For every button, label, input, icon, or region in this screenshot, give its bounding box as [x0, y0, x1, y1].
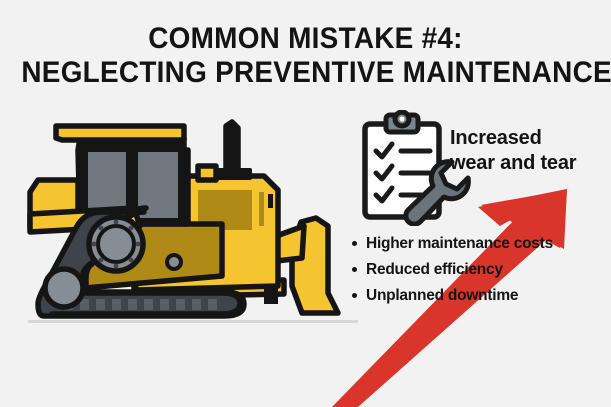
- callout-heading-line-1: Increased: [450, 127, 542, 149]
- list-item-label: Unplanned downtime: [366, 287, 518, 304]
- list-item: Reduced efficiency: [352, 260, 602, 279]
- title-line-2: NEGLECTING PREVENTIVE MAINTENANCE: [21, 56, 589, 90]
- page-title: COMMON MISTAKE #4: NEGLECTING PREVENTIVE…: [0, 22, 611, 90]
- bullet-dot-icon: [352, 241, 357, 246]
- exhaust-stack: [226, 122, 238, 174]
- title-line-1: COMMON MISTAKE #4:: [21, 22, 589, 56]
- list-item: Higher maintenance costs: [352, 234, 602, 253]
- callout-heading: Increased wear and tear: [450, 126, 610, 176]
- bulldozer-illustration: .ol { stroke:#151515; stroke-width:5.5; …: [16, 108, 368, 344]
- exhaust-base: [216, 168, 252, 180]
- hood-vent: [198, 166, 216, 180]
- list-item-label: Higher maintenance costs: [366, 235, 553, 252]
- list-item: Unplanned downtime: [352, 286, 602, 305]
- track-roller: [167, 255, 181, 269]
- infographic-canvas: COMMON MISTAKE #4: NEGLECTING PREVENTIVE…: [0, 0, 611, 407]
- bullet-dot-icon: [352, 267, 357, 272]
- ground-shadow: [28, 320, 358, 323]
- list-item-label: Reduced efficiency: [366, 261, 503, 278]
- callout-heading-line-2: wear and tear: [450, 151, 610, 176]
- consequences-list: Higher maintenance costs Reduced efficie…: [352, 234, 602, 305]
- bullet-dot-icon: [352, 293, 357, 298]
